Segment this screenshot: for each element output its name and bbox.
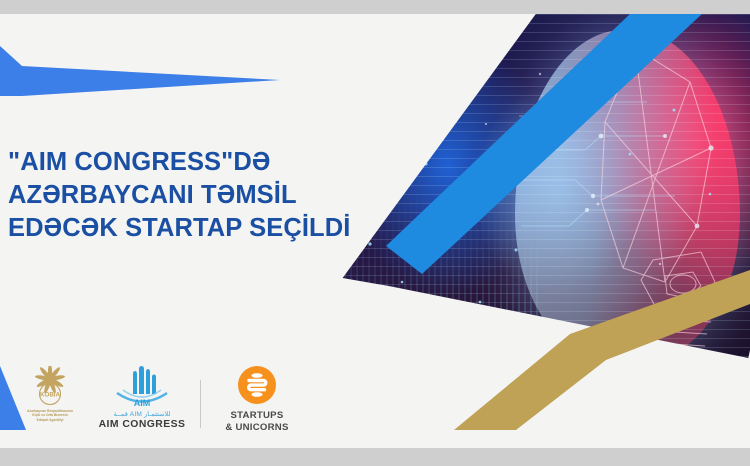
headline-line-2: AZƏRBAYCANI TƏMSİL	[8, 179, 368, 212]
headline-line-1: "AIM CONGRESS"DƏ	[8, 146, 368, 179]
su-name-line-2: & UNICORNS	[225, 422, 288, 434]
gold-stripe	[420, 270, 750, 430]
bottom-chrome-band	[0, 448, 750, 466]
aim-towers-icon: AIM	[111, 366, 173, 410]
headline-line-3: EDƏCƏK STARTAP SEÇİLDİ	[8, 212, 368, 245]
su-name-line-1: STARTUPS	[225, 410, 288, 422]
kobia-mark-text: KOBİA	[40, 392, 60, 399]
logo-strip: KOBİA Azərbaycan Respublikasının Kiçik v…	[18, 366, 298, 433]
banner-canvas: "AIM CONGRESS"DƏ AZƏRBAYCANI TƏMSİL EDƏC…	[0, 0, 750, 466]
aim-mark-text: AIM	[134, 398, 151, 408]
kobia-subtitle: Azərbaycan Respublikasının Kiçik və Orta…	[18, 409, 82, 422]
logo-startups-unicorns: STARTUPS & UNICORNS	[216, 366, 298, 433]
logo-kobia: KOBİA Azərbaycan Respublikasının Kiçik v…	[18, 366, 82, 422]
banner-card: "AIM CONGRESS"DƏ AZƏRBAYCANI TƏMSİL EDƏC…	[0, 14, 750, 448]
logo-aim-congress: AIM قمــة AIM للاستثمـار AIM CONGRESS	[98, 366, 186, 430]
logo-divider	[200, 380, 201, 428]
kobia-subtitle-line-3: İnkişafı Agentliyi	[18, 418, 82, 422]
startups-unicorns-name: STARTUPS & UNICORNS	[225, 410, 288, 433]
kobia-flower-icon: KOBİA	[22, 366, 78, 408]
aim-congress-name: AIM CONGRESS	[99, 419, 186, 430]
blue-wedge-top-left	[0, 28, 280, 118]
top-chrome-band	[0, 0, 750, 14]
aim-arabic-text: قمــة AIM للاستثمـار	[114, 410, 171, 418]
startups-unicorns-icon	[238, 366, 276, 404]
page-title: "AIM CONGRESS"DƏ AZƏRBAYCANI TƏMSİL EDƏC…	[8, 146, 368, 245]
